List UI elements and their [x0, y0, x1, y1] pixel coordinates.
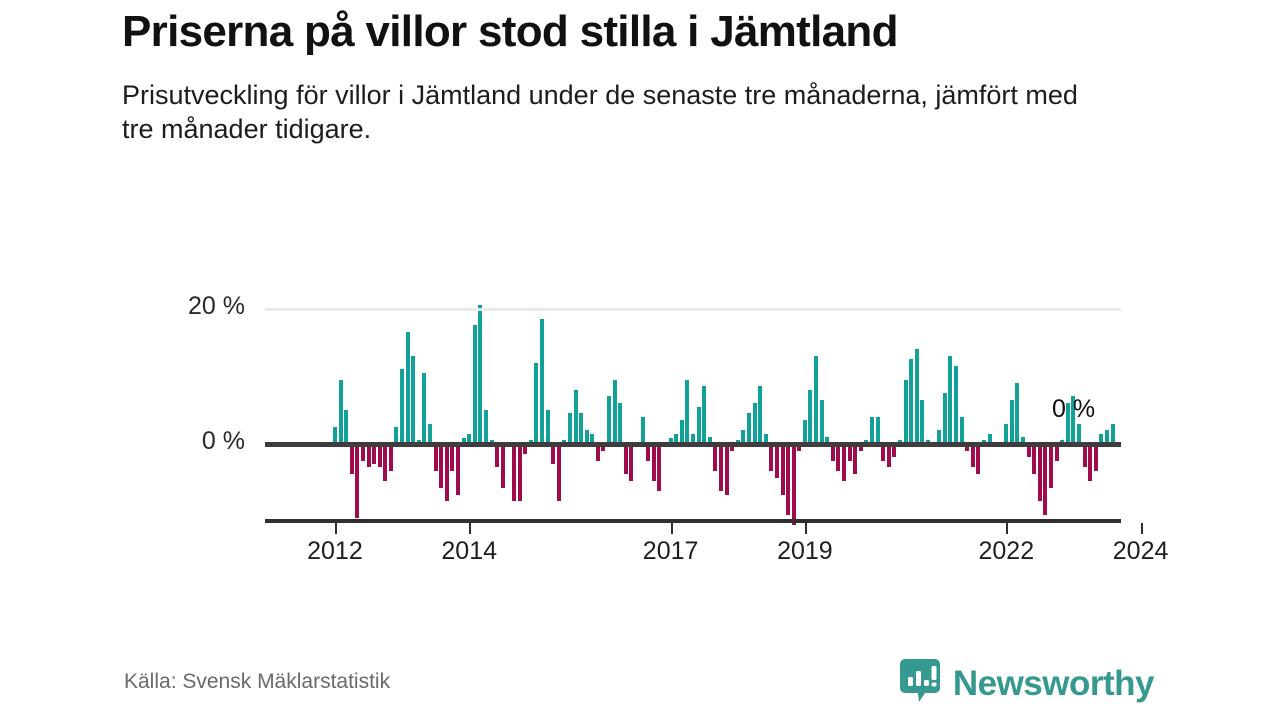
source-credit: Källa: Svensk Mäklarstatistik [124, 670, 390, 694]
bar [607, 396, 611, 443]
bar [781, 444, 785, 495]
bar [976, 444, 980, 474]
bar-series [265, 295, 1121, 525]
bar [568, 413, 572, 443]
bar [534, 363, 538, 444]
x-axis-tick-label: 2022 [978, 537, 1034, 566]
last-value-annotation: 0 % [1052, 395, 1095, 424]
bar [753, 403, 757, 444]
zero-baseline [265, 442, 1121, 447]
bar [887, 444, 891, 468]
bar [680, 420, 684, 444]
bar [344, 410, 348, 444]
bar [434, 444, 438, 471]
bar [702, 386, 706, 444]
bar [1038, 444, 1042, 502]
bar [512, 444, 516, 502]
bar [904, 380, 908, 444]
bar [400, 369, 404, 443]
bar [624, 444, 628, 474]
x-axis-tick-label: 2012 [307, 537, 363, 566]
bar [473, 325, 477, 443]
bar [557, 444, 561, 502]
bar [697, 407, 701, 444]
x-axis-tick-label: 2014 [441, 537, 497, 566]
x-axis-tick-label: 2024 [1113, 537, 1169, 566]
bar [786, 444, 790, 515]
bar [422, 373, 426, 444]
x-axis-tick-label: 2017 [643, 537, 699, 566]
bar [1088, 444, 1092, 481]
footer: Källa: Svensk Mäklarstatistik Newsworthy [0, 644, 1280, 720]
bar [792, 444, 796, 525]
x-axis-tick-label: 2019 [777, 537, 833, 566]
bar [1010, 400, 1014, 444]
x-axis-tick-mark [1006, 523, 1008, 534]
bar [1043, 444, 1047, 515]
bar [389, 444, 393, 471]
bar [657, 444, 661, 491]
bar [909, 359, 913, 444]
bar [971, 444, 975, 468]
bar [355, 444, 359, 518]
bar [713, 444, 717, 471]
bar [842, 444, 846, 481]
bar [445, 444, 449, 502]
bar [747, 413, 751, 443]
x-axis-tick-mark [805, 523, 807, 534]
bar [1111, 424, 1115, 444]
bar [725, 444, 729, 495]
bar [546, 410, 550, 444]
bar [641, 417, 645, 444]
bar [853, 444, 857, 474]
plot-area [265, 295, 1121, 525]
bar [920, 400, 924, 444]
bar [411, 356, 415, 444]
y-axis-tick-label: 0 % [202, 427, 245, 456]
x-axis-line [265, 519, 1121, 523]
bar [803, 420, 807, 444]
bar [758, 386, 762, 444]
y-axis-labels: 0 %20 % [105, 295, 245, 525]
bar [814, 356, 818, 444]
chart-container: 0 %20 % 201220142017201920222024 0 % [0, 295, 1280, 595]
bar [383, 444, 387, 481]
bar [618, 403, 622, 444]
bar [495, 444, 499, 468]
bar [836, 444, 840, 471]
newsworthy-logo[interactable]: Newsworthy [899, 658, 1154, 709]
bar [484, 410, 488, 444]
bar [574, 390, 578, 444]
bar [450, 444, 454, 471]
bar [501, 444, 505, 488]
bar [1094, 444, 1098, 471]
bar [378, 444, 382, 468]
bar [372, 444, 376, 464]
bar [769, 444, 773, 471]
bar [960, 417, 964, 444]
header-block: Priserna på villor stod stilla i Jämtlan… [122, 8, 1132, 147]
chart-subtitle: Prisutveckling för villor i Jämtland und… [122, 78, 1102, 147]
bar [954, 366, 958, 444]
gridline [265, 308, 1121, 311]
bar [1077, 424, 1081, 444]
bar [439, 444, 443, 488]
newsworthy-wordmark: Newsworthy [953, 666, 1154, 701]
bar [870, 417, 874, 444]
bar [1083, 444, 1087, 468]
y-axis-tick-label: 20 % [188, 292, 245, 321]
bar [350, 444, 354, 474]
bar [406, 332, 410, 444]
bar [540, 319, 544, 444]
bar [339, 380, 343, 444]
bar [876, 417, 880, 444]
x-axis-tick-mark [1141, 523, 1143, 534]
bar [820, 400, 824, 444]
bar [719, 444, 723, 491]
bar [428, 424, 432, 444]
bar [943, 393, 947, 444]
bar [518, 444, 522, 502]
bar [579, 413, 583, 443]
bar [1049, 444, 1053, 488]
bar [478, 305, 482, 444]
bar [1032, 444, 1036, 474]
bar [915, 349, 919, 444]
bar [652, 444, 656, 481]
x-axis-tick-mark [469, 523, 471, 534]
bar [613, 380, 617, 444]
bar [808, 390, 812, 444]
x-axis-tick-mark [671, 523, 673, 534]
newsworthy-bubble-barchart-icon [899, 658, 941, 709]
bar [775, 444, 779, 478]
bar [629, 444, 633, 481]
bar [456, 444, 460, 495]
page-title: Priserna på villor stod stilla i Jämtlan… [122, 8, 912, 56]
bar [1015, 383, 1019, 444]
x-axis-tick-mark [335, 523, 337, 534]
bar [948, 356, 952, 444]
bar [551, 444, 555, 464]
bar [1004, 424, 1008, 444]
bar [367, 444, 371, 468]
bar [685, 380, 689, 444]
